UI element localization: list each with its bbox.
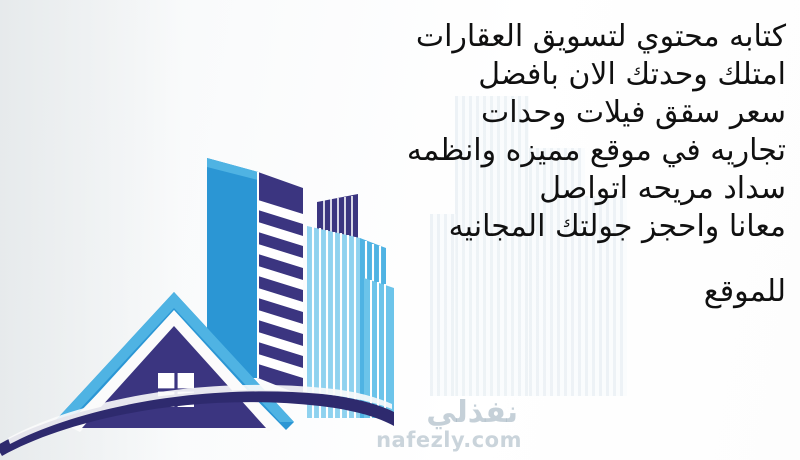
headline-line-1: كتابه محتوي لتسويق العقارات (266, 18, 786, 56)
headline-text-block: كتابه محتوي لتسويق العقارات امتلك وحدتك … (266, 18, 786, 311)
headline-line-3: سعر سقق فيلات وحدات (266, 94, 786, 132)
headline-line-2: امتلك وحدتك الان بافضل (266, 56, 786, 94)
poster-canvas: كتابه محتوي لتسويق العقارات امتلك وحدتك … (0, 0, 800, 460)
headline-line-5: سداد مريحه اتواصل (266, 170, 786, 208)
headline-tail-line: للموقع (266, 273, 786, 311)
headline-line-6: معانا واحجز جولتك المجانيه (266, 208, 786, 246)
headline-line-4: تجاريه في موقع مميزه وانظمه (266, 132, 786, 170)
